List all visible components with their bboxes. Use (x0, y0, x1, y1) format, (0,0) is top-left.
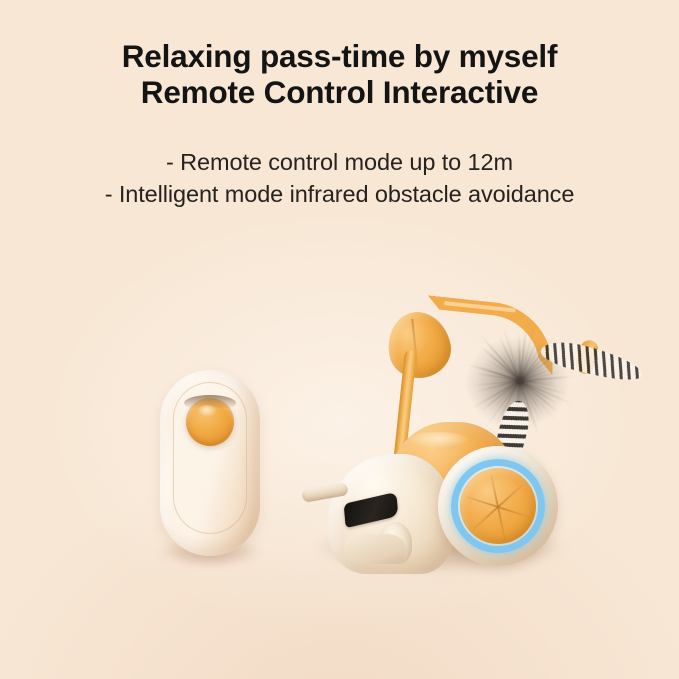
wheel-spoke (472, 506, 499, 530)
headline: Relaxing pass-time by myself Remote Cont… (0, 38, 679, 110)
headline-line-2: Remote Control Interactive (0, 74, 679, 110)
feature-item-obstacle-avoidance: - Intelligent mode infrared obstacle avo… (0, 178, 679, 210)
robot-front-foot (344, 534, 406, 564)
remote-control-product-image (160, 370, 260, 556)
robot-drive-wheel (438, 446, 558, 566)
remote-power-button (186, 398, 234, 446)
wheel-spoke (490, 474, 499, 508)
headline-line-1: Relaxing pass-time by myself (0, 38, 679, 74)
wheel-spoke (465, 496, 498, 508)
wheel-spoke (497, 507, 506, 541)
robot-toy-product-image (310, 258, 620, 570)
wheel-spoke (497, 484, 524, 508)
product-marketing-poster: Relaxing pass-time by myself Remote Cont… (0, 0, 679, 679)
wheel-hub (460, 468, 536, 544)
wheel-spoke (498, 506, 531, 518)
feature-list: - Remote control mode up to 12m - Intell… (0, 146, 679, 210)
feature-item-remote-range: - Remote control mode up to 12m (0, 146, 679, 178)
